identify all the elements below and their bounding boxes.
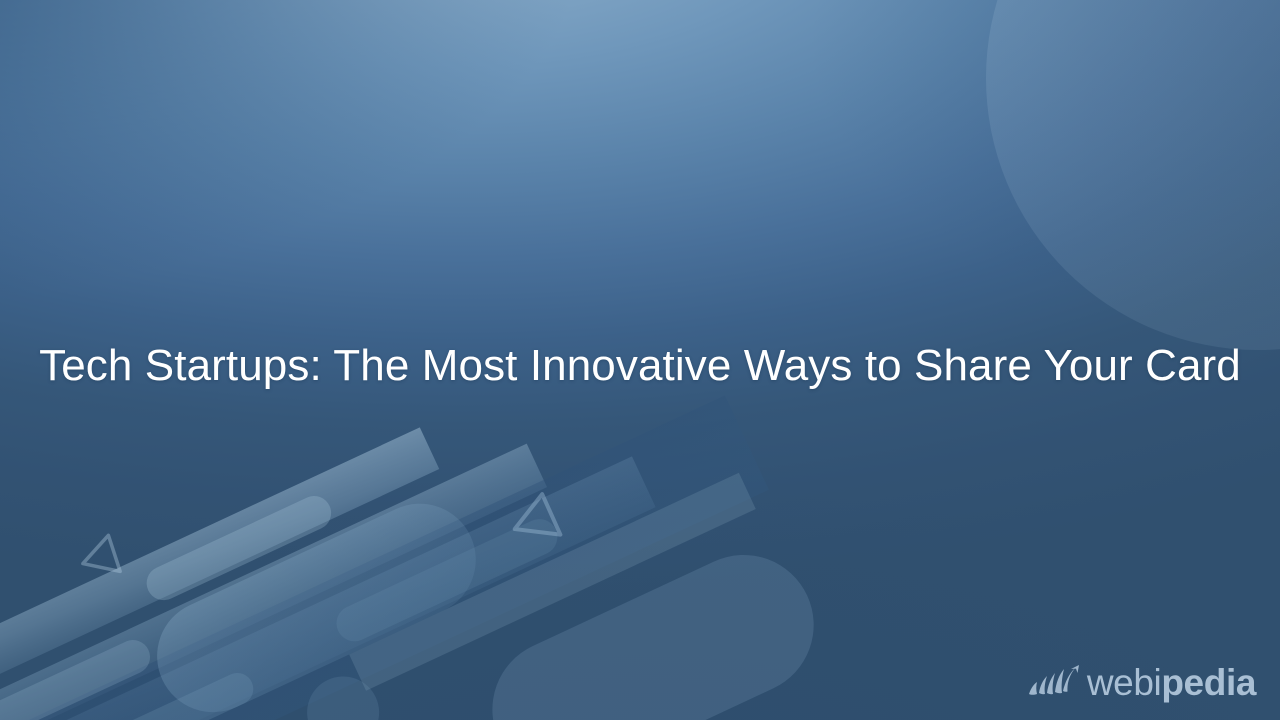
- top-right-accent-circle: [986, 0, 1280, 350]
- logo-text-bold: pedia: [1161, 662, 1256, 703]
- slide-canvas: Tech Startups: The Most Innovative Ways …: [0, 0, 1280, 720]
- logo-text-light: webi: [1087, 662, 1162, 703]
- webipedia-wordmark: webipedia: [1087, 664, 1256, 701]
- webipedia-swoosh-mark: [1027, 661, 1083, 701]
- webipedia-logo[interactable]: webipedia: [1027, 658, 1256, 704]
- slide-title: Tech Startups: The Most Innovative Ways …: [39, 341, 1241, 390]
- slide-title-container: Tech Startups: The Most Innovative Ways …: [0, 330, 1280, 402]
